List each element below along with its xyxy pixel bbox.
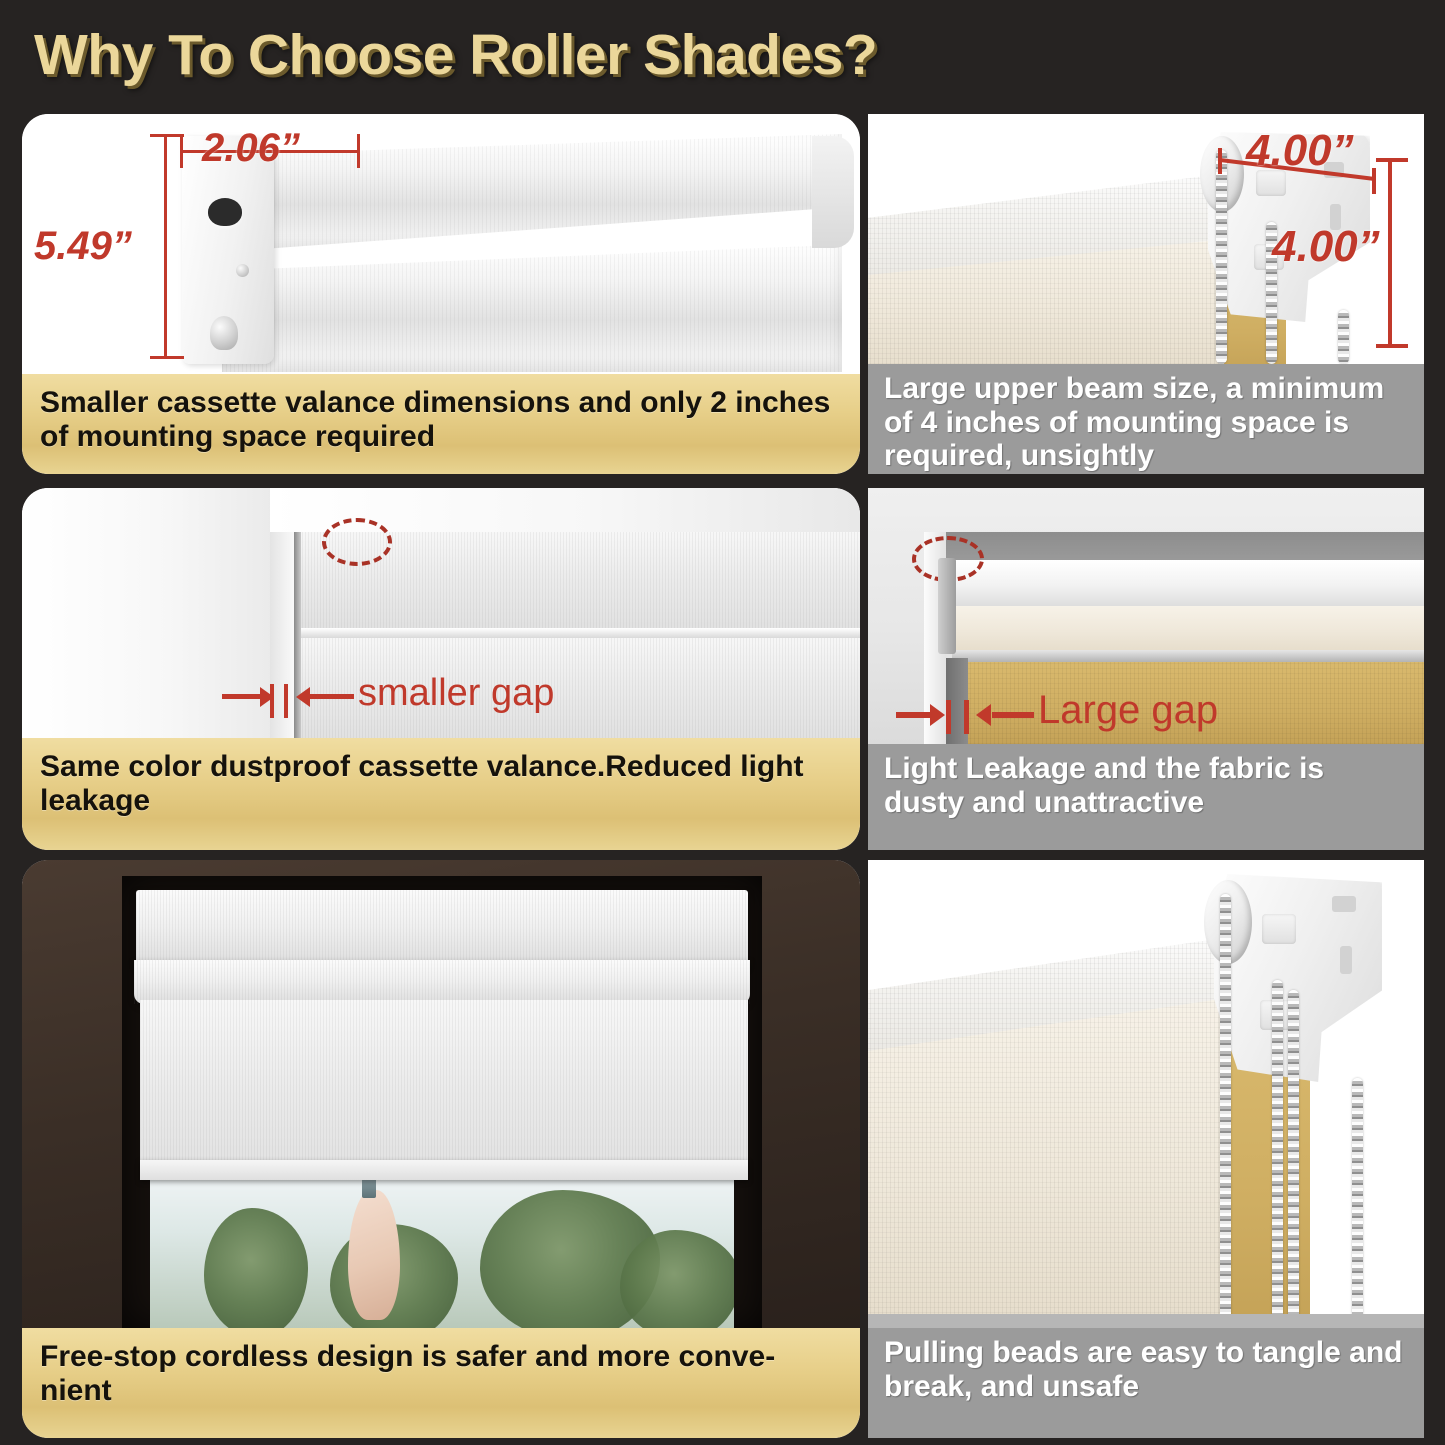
bottom-rail [140,1160,748,1180]
valance-bottom-rail [952,650,1424,662]
bracket-clip-upper [1262,914,1296,944]
gap-arrow-from-right [310,694,354,699]
panel-light-leakage: Large gap Light Leakage and the fabric i… [868,488,1424,850]
dim-height-label: 5.49” [34,224,132,269]
valance-bottom-texture [222,242,842,372]
highlight-ellipse [322,518,392,566]
dim-width-label: 2.06” [202,126,300,171]
panel-6-photo [868,860,1424,1328]
panel-dustproof-valance: smaller gap Same color dustproof cassett… [22,488,860,850]
cassette-header-lip [134,960,750,1004]
smaller-gap-label: smaller gap [358,672,554,715]
panel-5-photo [22,860,860,1328]
page-title: Why To Choose Roller Shades? [34,22,877,88]
dim-4in-v-line [1388,158,1392,348]
floor-strip [868,1314,1424,1328]
cream-valance-band [956,606,1424,652]
panel-cordless-design: Free-stop cordless design is safer and m… [22,860,860,1438]
gap-arrowhead-right [976,704,991,726]
tree-far-right [620,1230,734,1328]
endcap-screw-lower [210,316,238,350]
bead-chain-right [1352,1078,1363,1328]
outside-view [150,1180,734,1328]
gap-tick-left [946,700,951,734]
hanging-shade-texture [140,1000,748,1178]
dim-2in-tick-left [180,134,183,168]
comparison-grid: 2.06” 5.49” Smaller cassette valance dim… [0,110,1445,1445]
dim-beam-height-label: 4.00” [1272,222,1380,272]
bead-chain-mid2 [1288,990,1299,1328]
headrail [944,560,1424,612]
cassette-lip-texture [134,960,750,1004]
endcap-slot-icon [208,198,242,226]
tree-left [204,1208,308,1328]
dim-5in-tick-top [150,134,184,137]
gap-arrowhead-left [260,687,274,707]
shade-left-edge-shadow [294,532,301,738]
main-sheet-weave [868,992,1268,1328]
valance-seam [296,628,860,638]
panel-2-photo: 4.00” 4.00” [868,114,1424,364]
bead-chain-mid [1272,980,1283,1328]
infographic-root: Why To Choose Roller Shades? [0,0,1445,1445]
main-shade-sheet [868,992,1268,1328]
panel-1-photo: 2.06” 5.49” [22,114,860,374]
bracket-notch-top [1332,896,1356,912]
dim-5in-line [164,134,167,359]
gap-tick-right [964,700,969,734]
cassette-header [136,890,748,966]
panel-large-upper-beam: 4.00” 4.00” Large upper beam size, a min… [868,114,1424,474]
panel-smaller-cassette: 2.06” 5.49” Smaller cassette valance dim… [22,114,860,474]
window-casing-left [22,488,290,738]
hanging-shade [140,1000,748,1178]
endcap-screw-upper [236,264,249,277]
hand [348,1190,400,1320]
panel-3-photo: smaller gap [22,488,860,738]
bracket-notch-mid [1340,946,1352,974]
gap-arrowhead-left [930,704,945,726]
bead-chain-left [1216,150,1227,364]
panel-1-caption: Smaller cassette valance dimensions and … [22,374,860,474]
cassette-header-texture [136,890,748,966]
title-bar: Why To Choose Roller Shades? [0,0,1445,110]
dim-4in-h-tick-left [1218,148,1222,174]
gap-tick-right [284,684,288,718]
dim-5in-tick-bottom [150,356,184,359]
dim-4in-v-tick-top [1376,158,1408,162]
dim-2in-tick-right [357,134,360,168]
panel-6-caption: Pulling beads are easy to tangle and bre… [868,1328,1424,1438]
panel-pulling-beads: Pulling beads are easy to tangle and bre… [868,860,1424,1438]
valance-right-cap [812,136,854,248]
cassette-valance-bottom [222,242,842,372]
dim-beam-width-label: 4.00” [1246,126,1354,176]
panel-4-photo: Large gap [868,488,1424,744]
bead-chain-right [1338,310,1349,364]
dim-4in-h-tick-right [1372,168,1376,194]
gap-arrow-from-right [992,712,1034,718]
panel-3-caption: Same color dustproof cassette valance.Re… [22,738,860,850]
gap-arrowhead-right [296,687,310,707]
panel-2-caption: Large upper beam size, a minimum of 4 in… [868,364,1424,474]
panel-5-caption: Free-stop cordless design is safer and m… [22,1328,860,1438]
panel-4-caption: Light Leakage and the fabric is dusty an… [868,744,1424,850]
dim-4in-v-tick-bottom [1376,344,1408,348]
bracket-hook [938,558,956,654]
bead-chain-left [1220,894,1231,1328]
large-gap-label: Large gap [1038,688,1218,733]
